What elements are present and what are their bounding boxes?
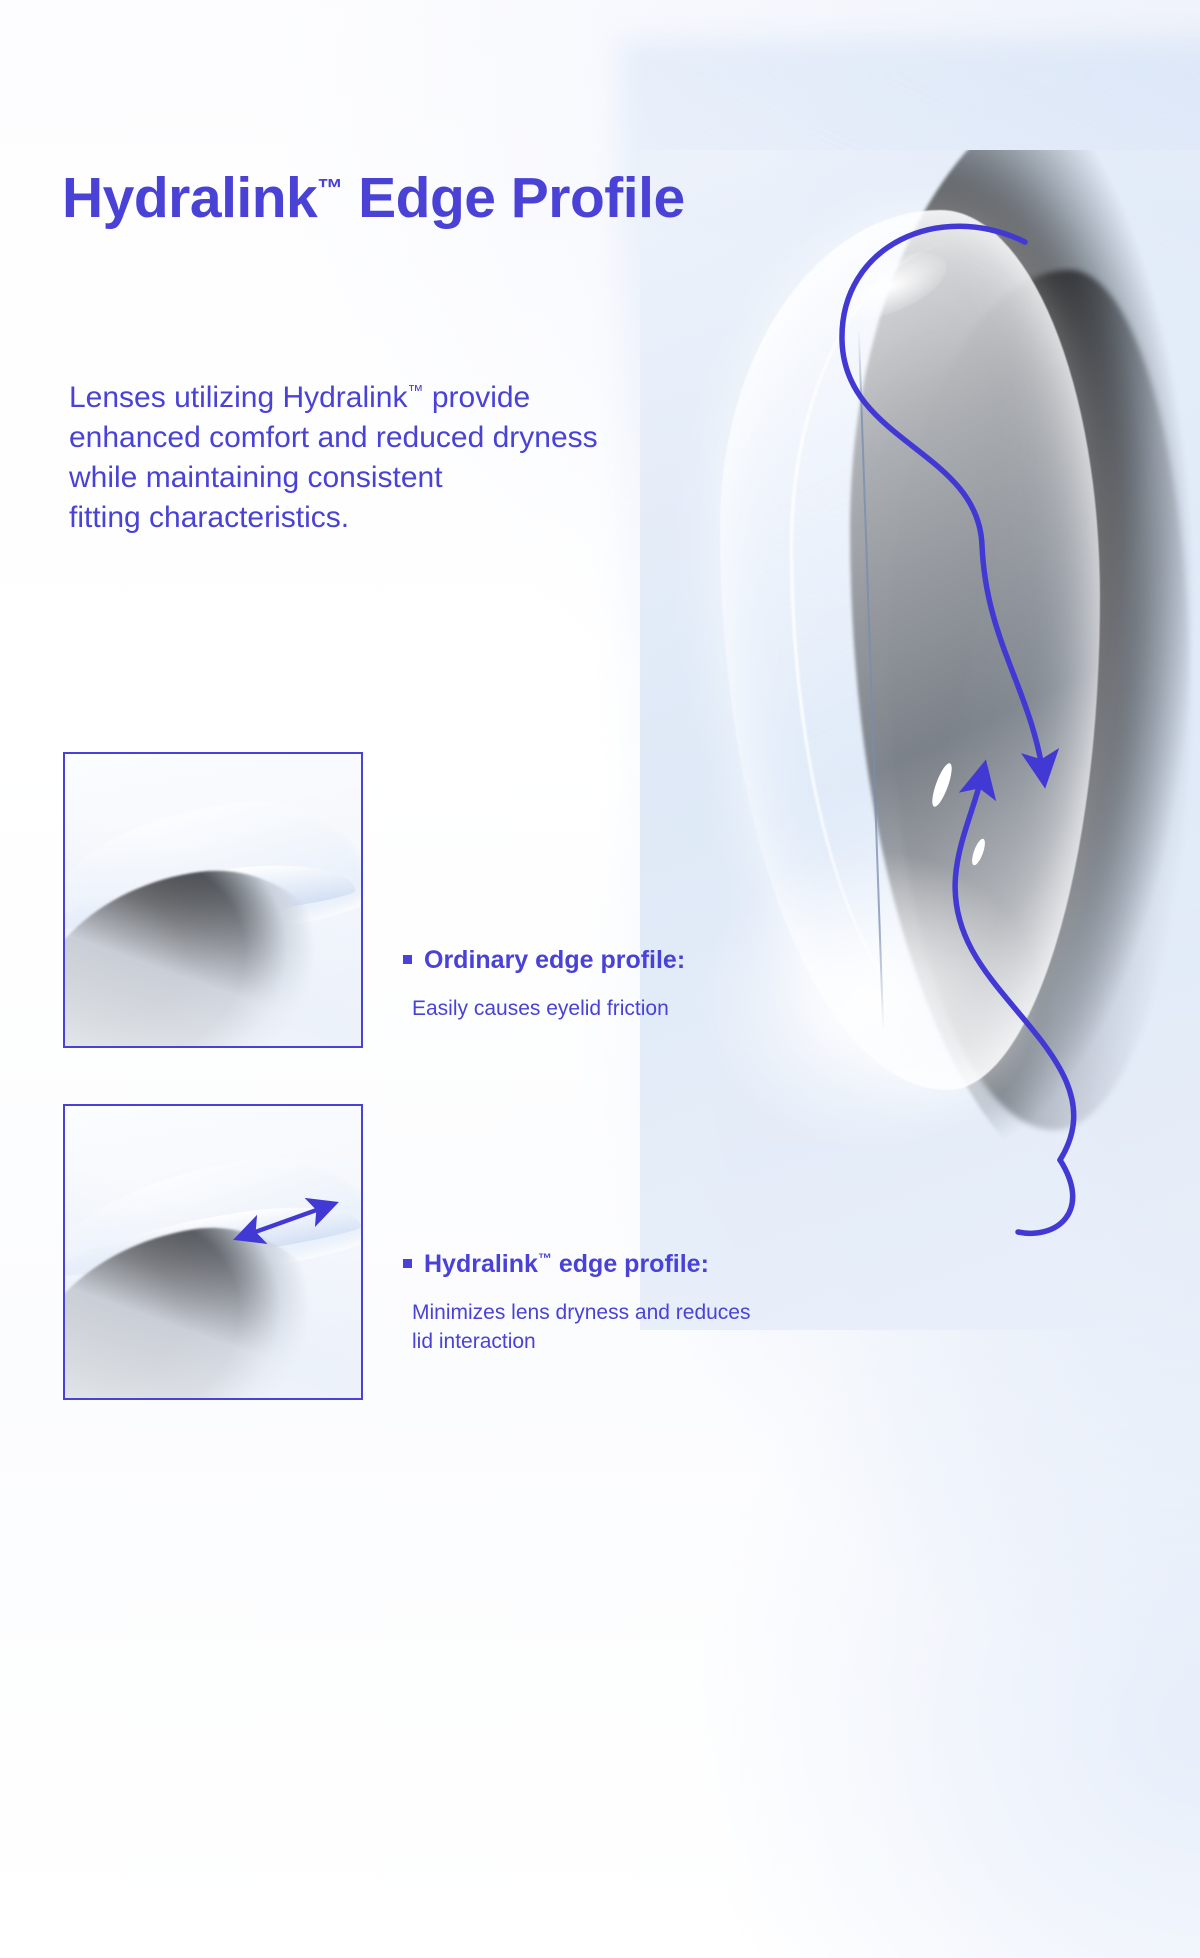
bullet-square-icon <box>403 1259 412 1268</box>
page-title-brand: Hydralink <box>62 166 317 230</box>
intro-line-4: fitting characteristics. <box>69 501 349 534</box>
callout-ordinary: Ordinary edge profile: Easily causes eye… <box>403 946 923 1023</box>
intro-line-2: enhanced comfort and reduced dryness <box>69 421 598 454</box>
callout-hydralink-brand: Hydralink <box>424 1250 538 1278</box>
intro-line-3: while maintaining consistent <box>69 461 443 494</box>
callout-ordinary-description: Easily causes eyelid friction <box>412 994 923 1023</box>
page-title: Hydralink™ Edge Profile <box>62 165 685 231</box>
page-title-suffix: Edge Profile <box>343 166 685 230</box>
callout-hydralink-suffix: edge profile: <box>552 1250 709 1278</box>
curved-flow-arrow-icon <box>640 150 1200 1330</box>
ordinary-light-wash <box>65 754 361 1046</box>
hydralink-edge-profile-infographic: Hydralink™ Edge Profile Lenses utilizing… <box>0 0 1200 1958</box>
intro-line-1a: Lenses utilizing Hydralink <box>69 381 408 414</box>
double-headed-arrow-icon <box>65 1106 361 1398</box>
figure-hydralink-edge-profile <box>63 1104 363 1400</box>
intro-line-1b: provide <box>424 381 531 414</box>
hero-lens-image <box>640 150 1200 1330</box>
callout-hydralink-description: Minimizes lens dryness and reduceslid in… <box>412 1298 943 1356</box>
callout-ordinary-label: Ordinary edge profile: <box>424 946 685 975</box>
callout-hydralink-heading: Hydralink™ edge profile: <box>403 1250 943 1279</box>
figure-ordinary-edge-profile <box>63 752 363 1048</box>
trademark-symbol: ™ <box>317 173 343 203</box>
callout-hydralink: Hydralink™ edge profile: Minimizes lens … <box>403 1250 943 1356</box>
callout-hydralink-label: Hydralink™ edge profile: <box>424 1250 709 1279</box>
trademark-symbol: ™ <box>538 1250 552 1266</box>
callout-ordinary-heading: Ordinary edge profile: <box>403 946 923 975</box>
bullet-square-icon <box>403 955 412 964</box>
callout-hydralink-desc-line-2: lid interaction <box>412 1330 536 1353</box>
intro-paragraph: Lenses utilizing Hydralink™ provideenhan… <box>69 372 749 538</box>
callout-hydralink-desc-line-1: Minimizes lens dryness and reduces <box>412 1301 750 1324</box>
trademark-symbol: ™ <box>408 383 424 400</box>
